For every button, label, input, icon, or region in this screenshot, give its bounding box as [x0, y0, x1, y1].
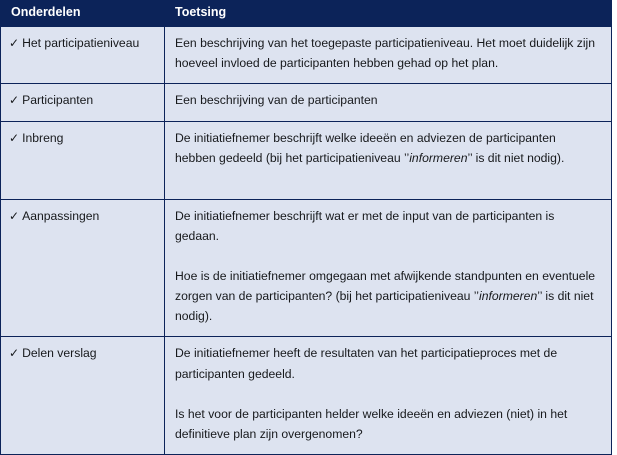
paragraph-text: Een beschrijving van de participanten [175, 93, 378, 107]
emphasized-term: informeren [479, 289, 537, 303]
toetsing-paragraph: Een beschrijving van de participanten [175, 90, 599, 110]
paragraph-text: Een beschrijving van het toegepaste part… [175, 36, 595, 70]
table-header: Onderdelen Toetsing [1, 1, 612, 27]
onderdeel-cell: ✓Aanpassingen [1, 199, 165, 337]
paragraph-text: De initiatiefnemer beschrijft wat er met… [175, 209, 554, 243]
toetsing-cell: De initiatiefnemer heeft de resultaten v… [165, 337, 612, 455]
toetsing-paragraph: Hoe is de initiatiefnemer omgegaan met a… [175, 266, 599, 326]
toetsing-cell: De initiatiefnemer beschrijft welke idee… [165, 121, 612, 199]
toetsing-paragraph: Een beschrijving van het toegepaste part… [175, 33, 599, 73]
table-body: ✓Het participatieniveauEen beschrijving … [1, 26, 612, 454]
toetsing-paragraph: De initiatiefnemer beschrijft wat er met… [175, 206, 599, 246]
toetsing-cell: Een beschrijving van het toegepaste part… [165, 26, 612, 83]
column-header-toetsing: Toetsing [165, 1, 612, 27]
onderdeel-label: Inbreng [22, 131, 63, 145]
toetsing-cell: Een beschrijving van de participanten [165, 84, 612, 122]
table-row: ✓ParticipantenEen beschrijving van de pa… [1, 84, 612, 122]
onderdeel-label: Participanten [22, 93, 93, 107]
column-header-onderdelen: Onderdelen [1, 1, 165, 27]
checkmark-icon: ✓ [9, 36, 19, 50]
table-header-row: Onderdelen Toetsing [1, 1, 612, 27]
onderdeel-cell: ✓Inbreng [1, 121, 165, 199]
checkmark-icon: ✓ [9, 209, 19, 223]
toetsing-paragraph: Is het voor de participanten helder welk… [175, 404, 599, 444]
toetsing-paragraph: De initiatiefnemer heeft de resultaten v… [175, 343, 599, 383]
paragraph-text: De initiatiefnemer heeft de resultaten v… [175, 346, 557, 380]
criteria-table-container: Onderdelen Toetsing ✓Het participatieniv… [0, 0, 611, 455]
table-row: ✓Delen verslagDe initiatiefnemer heeft d… [1, 337, 612, 455]
onderdeel-label: Het participatieniveau [22, 36, 139, 50]
paragraph-text: ’’ is dit niet nodig). [467, 151, 564, 165]
toetsing-cell: De initiatiefnemer beschrijft wat er met… [165, 199, 612, 337]
paragraph-text: Is het voor de participanten helder welk… [175, 407, 567, 441]
criteria-table: Onderdelen Toetsing ✓Het participatieniv… [0, 0, 612, 455]
checkmark-icon: ✓ [9, 131, 19, 145]
onderdeel-label: Delen verslag [22, 346, 97, 360]
checkmark-icon: ✓ [9, 93, 19, 107]
onderdeel-label: Aanpassingen [22, 209, 99, 223]
table-row: ✓Het participatieniveauEen beschrijving … [1, 26, 612, 83]
toetsing-paragraph: De initiatiefnemer beschrijft welke idee… [175, 128, 599, 168]
table-row: ✓InbrengDe initiatiefnemer beschrijft we… [1, 121, 612, 199]
onderdeel-cell: ✓Delen verslag [1, 337, 165, 455]
onderdeel-cell: ✓Participanten [1, 84, 165, 122]
table-row: ✓AanpassingenDe initiatiefnemer beschrij… [1, 199, 612, 337]
onderdeel-cell: ✓Het participatieniveau [1, 26, 165, 83]
checkmark-icon: ✓ [9, 346, 19, 360]
emphasized-term: informeren [409, 151, 467, 165]
